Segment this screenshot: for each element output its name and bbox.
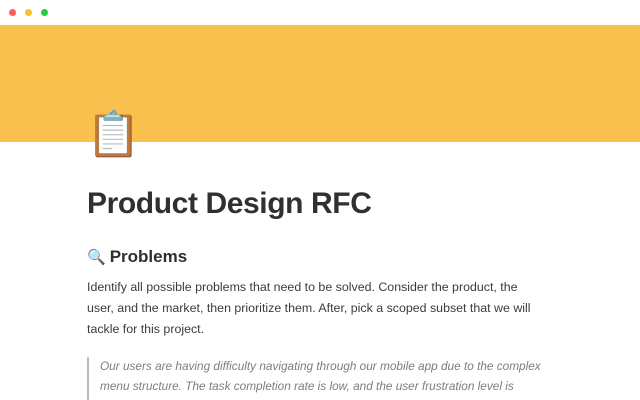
close-window-button[interactable] xyxy=(9,9,16,16)
section-heading-problems[interactable]: 🔍 Problems xyxy=(87,247,542,267)
document-body: Product Design RFC 🔍 Problems Identify a… xyxy=(87,170,542,400)
clipboard-icon[interactable]: 📋 xyxy=(86,110,136,160)
traffic-light-controls xyxy=(9,9,48,16)
page-title[interactable]: Product Design RFC xyxy=(87,170,542,221)
section-quote[interactable]: Our users are having difficulty navigati… xyxy=(87,356,542,400)
quote-accent-bar xyxy=(87,357,89,400)
maximize-window-button[interactable] xyxy=(41,9,48,16)
quote-text: Our users are having difficulty navigati… xyxy=(100,359,541,400)
window-titlebar xyxy=(0,0,640,25)
magnifying-glass-icon: 🔍 xyxy=(87,250,106,265)
minimize-window-button[interactable] xyxy=(25,9,32,16)
app-window: 📋 Product Design RFC 🔍 Problems Identify… xyxy=(0,0,640,400)
section-heading-label: Problems xyxy=(110,247,187,267)
section-paragraph[interactable]: Identify all possible problems that need… xyxy=(87,277,542,341)
